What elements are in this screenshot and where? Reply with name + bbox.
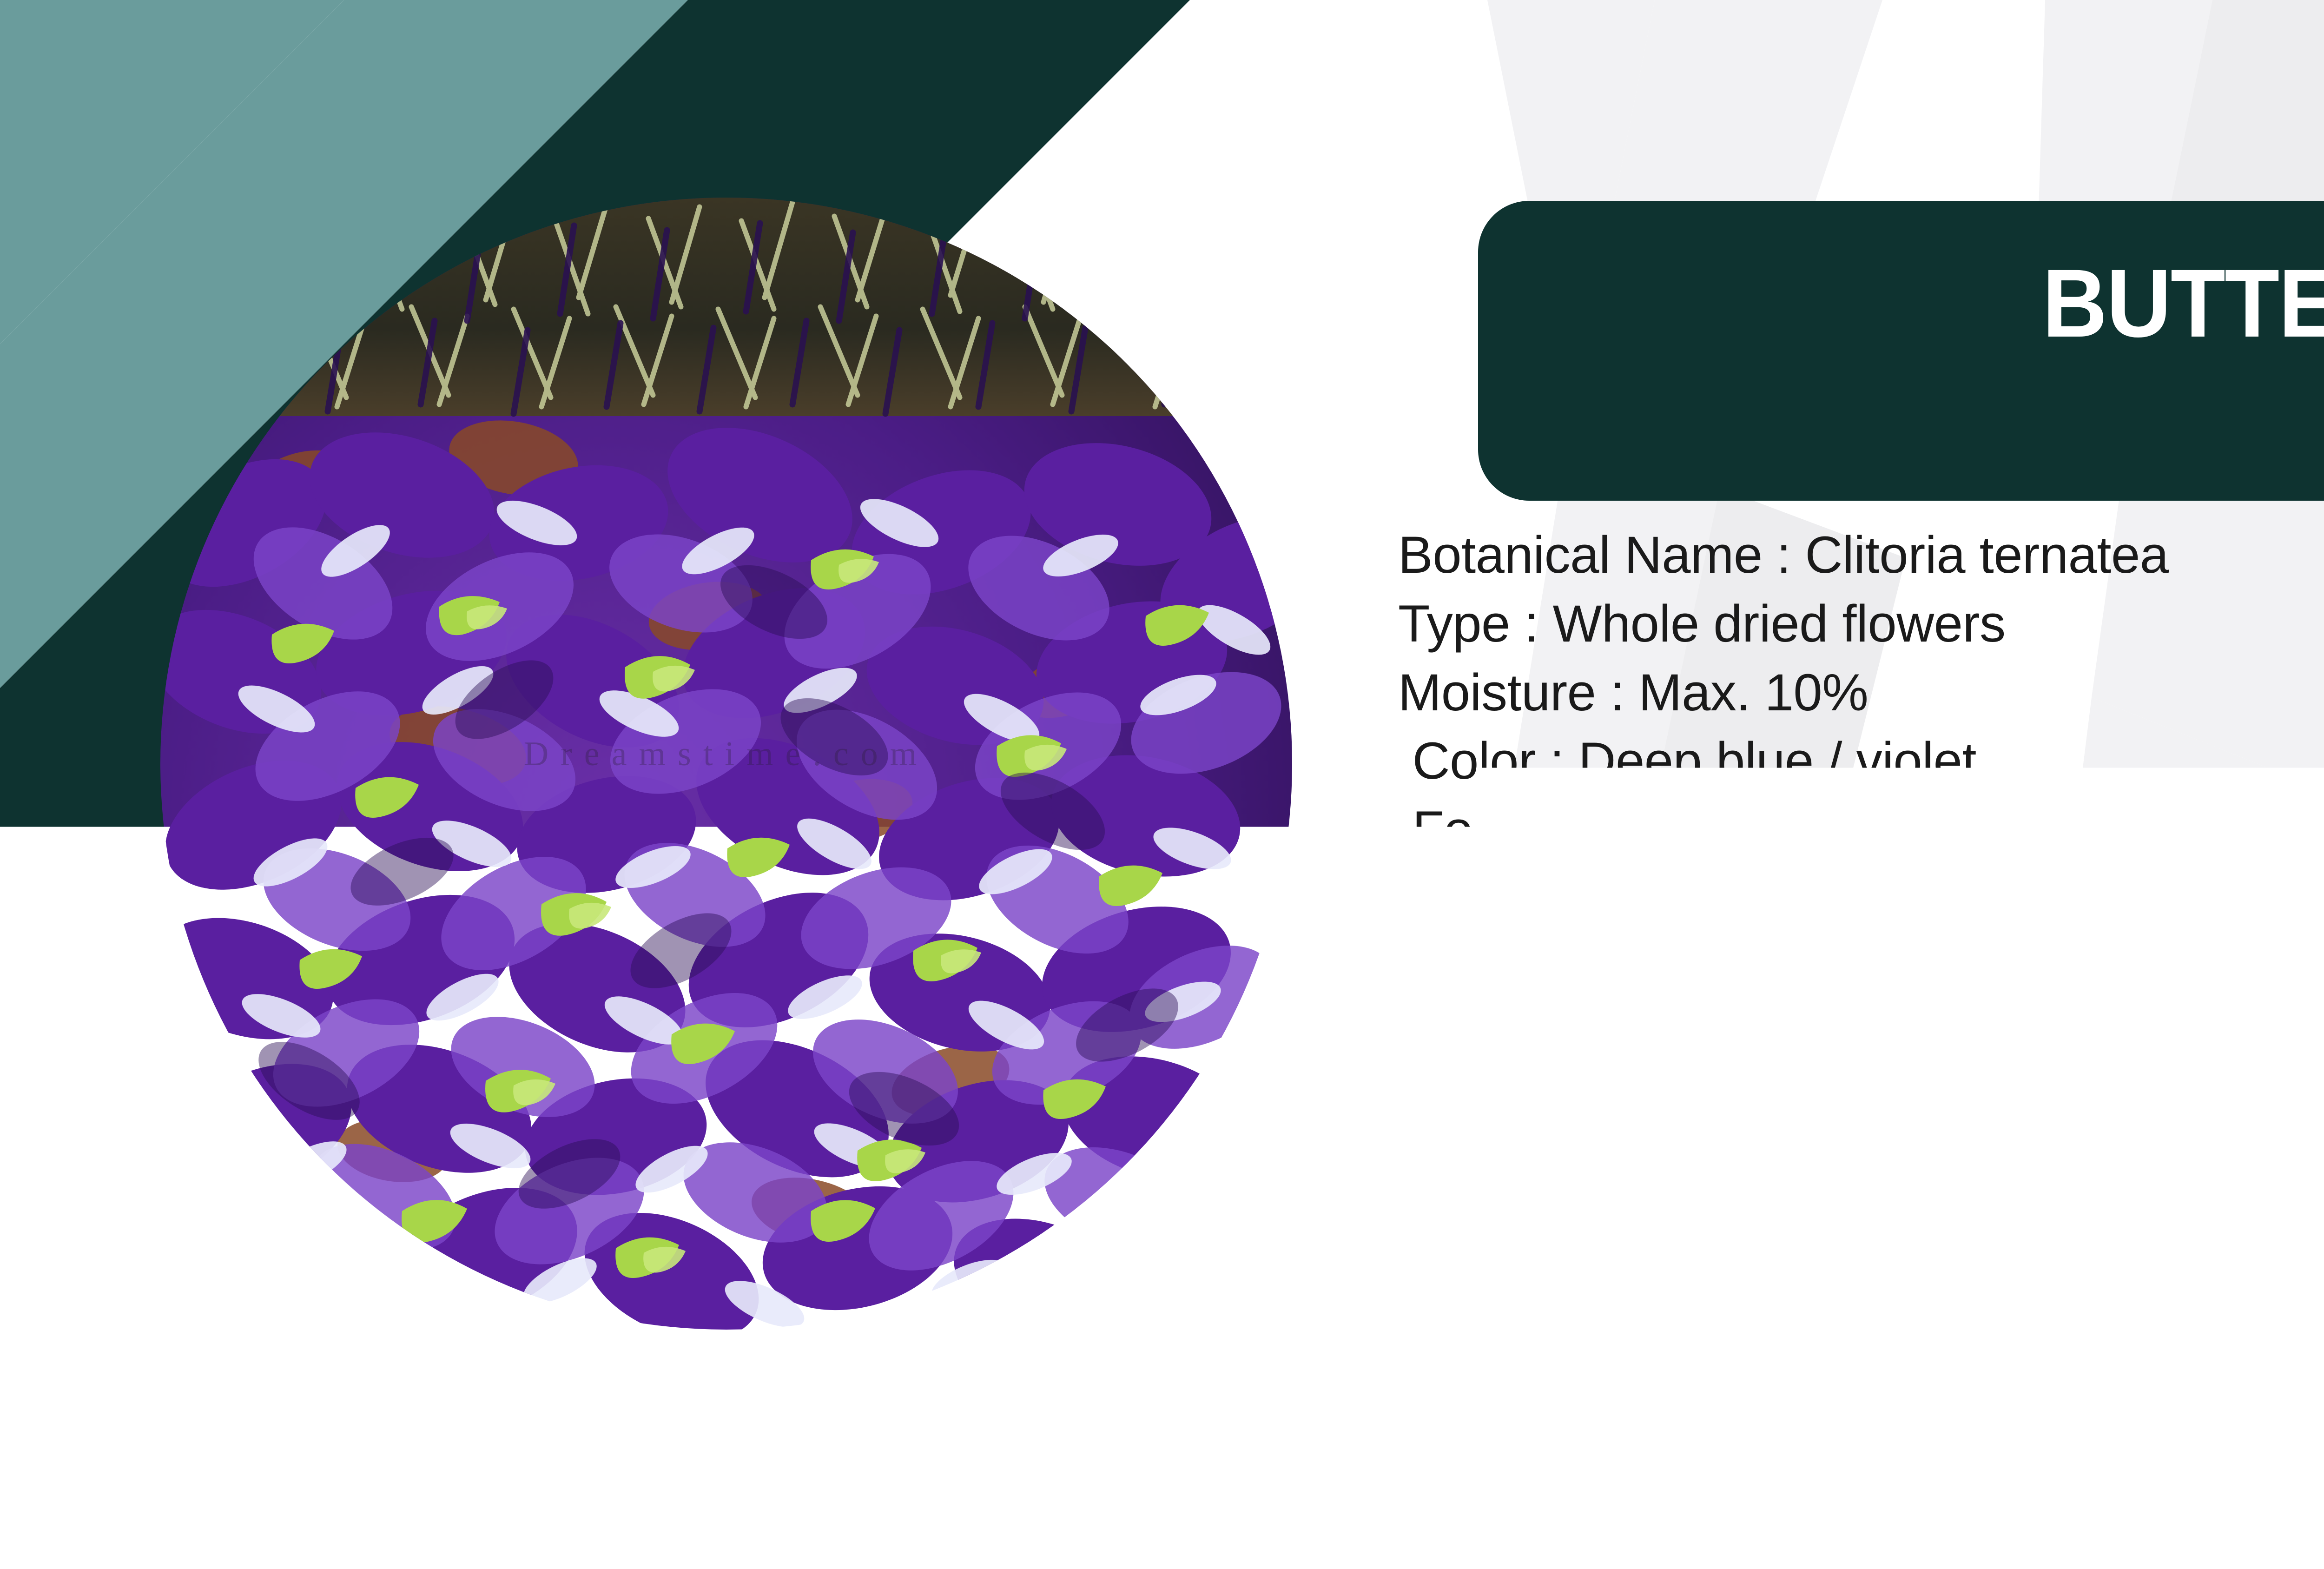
logo-letter-a1: A — [2308, 1246, 2324, 1337]
logo-wordmark-block: Anlian CORPORATION — [2308, 1253, 2324, 1373]
title-banner: BUTTERFLY PEA FLOWERS — [1478, 201, 2324, 501]
page-title-line-2: FLOWERS — [2322, 351, 2324, 445]
spec-type: Type : Whole dried flowers — [1398, 589, 2324, 658]
spec-color: Color : Deep blue / violet — [1398, 727, 2324, 795]
specification-list: Botanical Name : Clitoria ternatea Type … — [1398, 521, 2324, 1071]
slide-root: Dreamstime.com BUTTERFLY PEA FLOWERS Bot… — [0, 0, 2324, 1569]
spec-botanical-name: Botanical Name : Clitoria ternatea — [1398, 521, 2324, 589]
spec-foreign-matter: Foreign Matter : Nil — [1398, 795, 2324, 864]
logo-tagline: CORPORATION — [2308, 1337, 2324, 1373]
anlian-corporation-logo[interactable]: Anlian CORPORATION — [2150, 1253, 2324, 1420]
product-photo-circle: Dreamstime.com — [160, 198, 1292, 1330]
butterfly-pea-flower-photo — [160, 198, 1292, 1330]
spec-moisture: Moisture : Max. 10% — [1398, 658, 2324, 727]
page-title-line-1: BUTTERFLY PEA — [2042, 257, 2324, 351]
spec-free-from-chemicals: Free from chemicals & preservatives — [1398, 864, 2324, 933]
spec-packaging: Packaging : 5 kg / 10 kg cartons — [1398, 933, 2324, 1002]
anlian-a-ribbon-mark-icon — [2150, 1255, 2298, 1403]
spec-shelf-life: Shelf Life : 24 months — [1398, 1002, 2324, 1071]
logo-wordmark: Anlian — [2308, 1253, 2324, 1331]
